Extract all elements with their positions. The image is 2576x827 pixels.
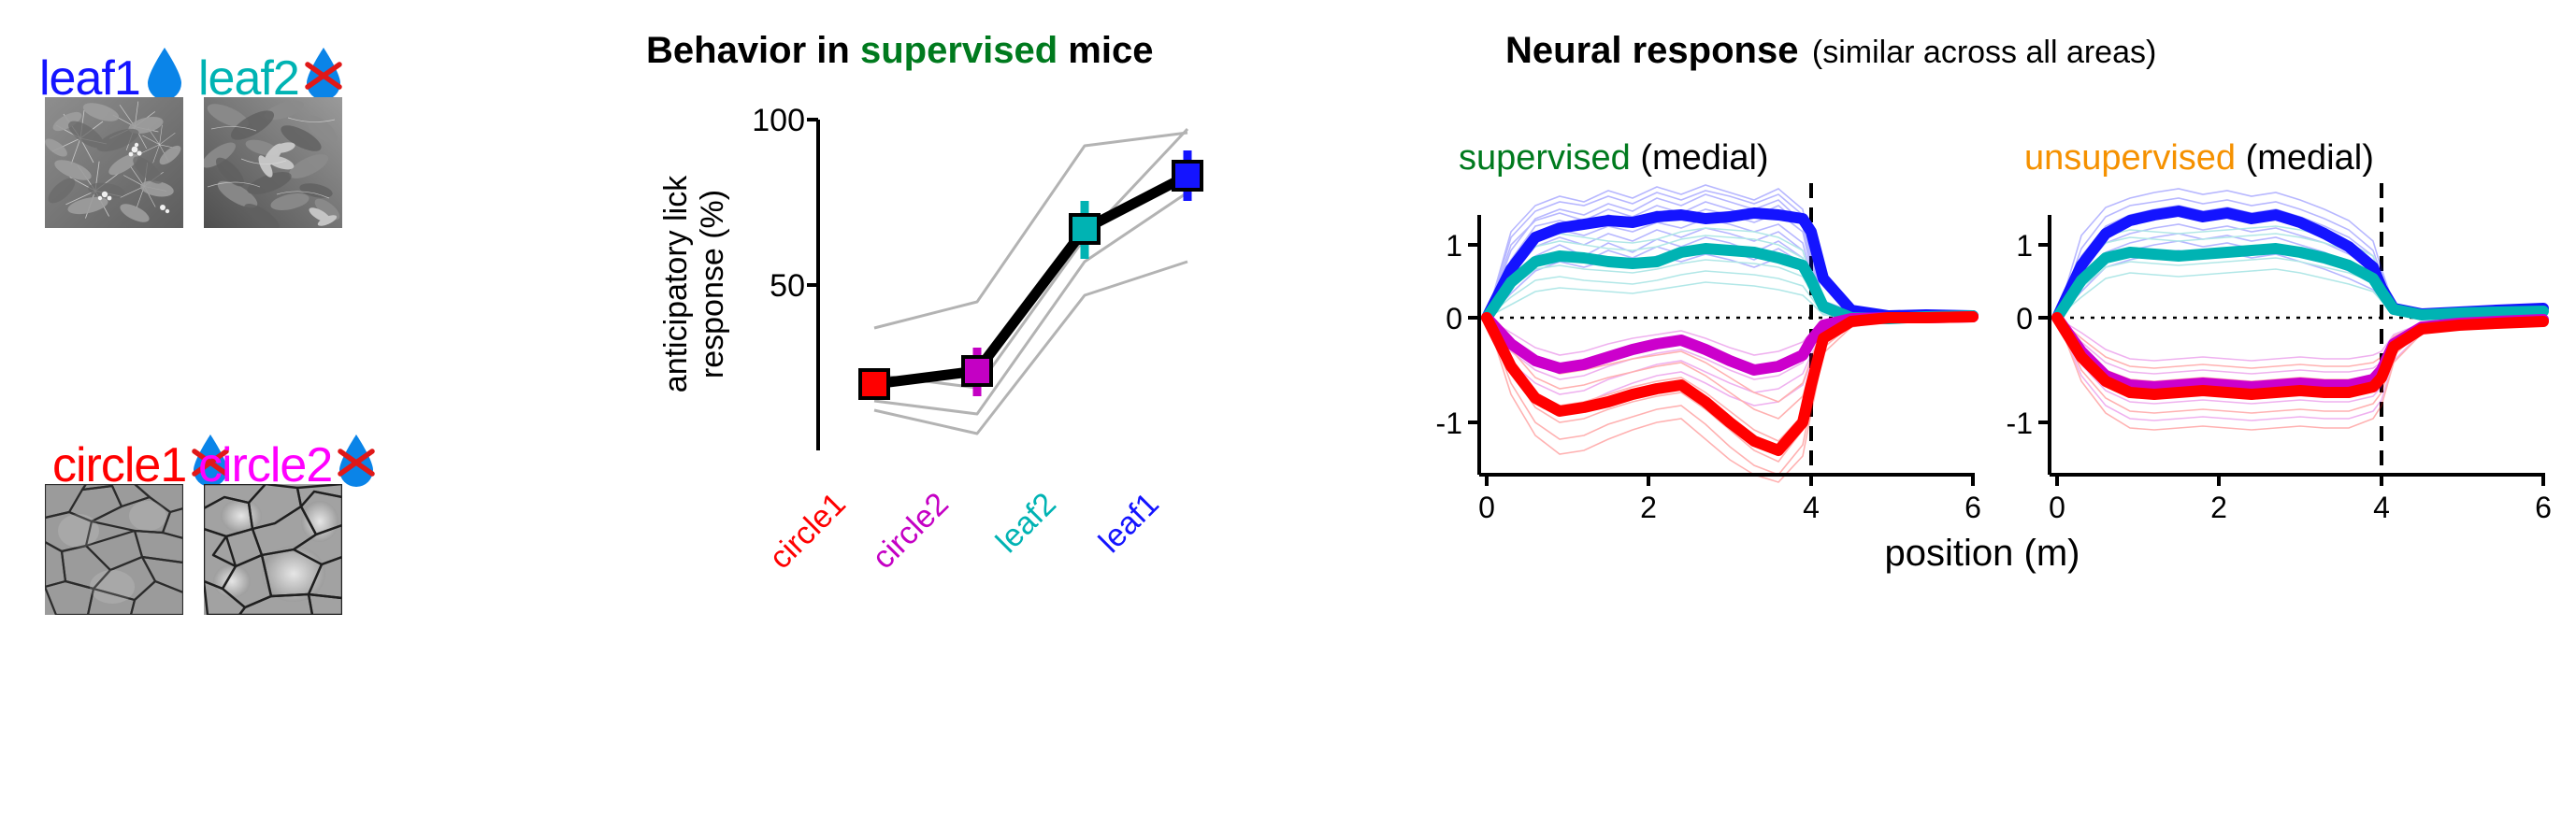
behavior-individual-traces	[874, 129, 1187, 434]
behavior-panel: Behavior in supervised mice anticipatory…	[612, 0, 1351, 827]
behavior-title-post: mice	[1058, 30, 1153, 71]
behavior-errorbar-circle1	[860, 370, 888, 398]
neural-subtitle-unsupervised-name: unsupervised	[2024, 138, 2236, 178]
stimulus-label-circle2: circle2	[198, 441, 332, 490]
stimulus-label-leaf1: leaf1	[39, 54, 140, 103]
behavior-errorbar-leaf1	[1173, 150, 1202, 201]
stimulus-item-leaf2: leaf2	[198, 45, 346, 103]
behavior-ytick-100: 100	[752, 103, 805, 138]
neural-unsup-xtick-0: 0	[2046, 491, 2068, 525]
neural-panel-title: Neural response (similar across all area…	[1505, 30, 2156, 72]
stimulus-item-circle2: circle2	[198, 432, 379, 490]
neural-title-sub: (similar across all areas)	[1812, 35, 2156, 70]
neural-subplot-title-unsupervised: unsupervised (medial)	[2024, 138, 2374, 178]
neural-unsupervised-plot: 1 0 -1	[1992, 178, 2553, 486]
behavior-title-pre: Behavior in	[646, 30, 860, 71]
neural-subtitle-supervised-suffix: (medial)	[1631, 138, 1769, 178]
neural-unsup-ytick-0: 0	[2016, 302, 2033, 335]
neural-sup-ytick-neg1: -1	[1436, 406, 1462, 440]
neural-sup-xtick-4: 4	[1800, 491, 1822, 525]
neural-unsup-ytick-neg1: -1	[2007, 406, 2033, 440]
stimulus-item-leaf1: leaf1	[39, 45, 187, 103]
behavior-xtick-leaf2: leaf2	[945, 486, 1064, 605]
neural-unsup-ytick-1: 1	[2016, 229, 2033, 263]
neural-sup-xtick-0: 0	[1475, 491, 1498, 525]
stimulus-texture-leaf1	[45, 97, 183, 228]
neural-x-axis-label: position (m)	[1702, 533, 2263, 575]
stimulus-texture-leaf2	[204, 97, 342, 228]
behavior-y-axis-label: anticipatory lick response (%)	[658, 130, 731, 438]
behavior-plot-svg: 100 50	[725, 89, 1248, 481]
behavior-title-highlight: supervised	[860, 30, 1058, 71]
neural-unsup-xtick-2: 2	[2208, 491, 2230, 525]
stimulus-texture-circle2	[204, 484, 342, 615]
neural-subtitle-supervised-name: supervised	[1459, 138, 1631, 178]
neural-unsup-xtick-4: 4	[2370, 491, 2393, 525]
behavior-ytick-50: 50	[770, 268, 805, 304]
behavior-mean-line	[874, 176, 1187, 384]
stimulus-label-circle1: circle1	[52, 441, 186, 490]
neural-sup-ytick-1: 1	[1446, 229, 1462, 263]
neural-supervised-plot: 1 0 -1	[1421, 178, 1982, 486]
neural-sup-ytick-0: 0	[1446, 302, 1462, 335]
neural-unsup-xtick-6: 6	[2532, 491, 2554, 525]
water-drop-icon	[142, 45, 187, 103]
mean-trace-leaf1	[2057, 211, 2543, 318]
neural-panel: Neural response (similar across all area…	[1393, 0, 2576, 827]
stimulus-texture-circle1	[45, 484, 183, 615]
behavior-xtick-leaf1: leaf1	[1048, 486, 1167, 605]
water-drop-crossed-icon	[334, 432, 379, 490]
mean-trace-leaf2	[2057, 249, 2543, 318]
neural-subplot-title-supervised: supervised (medial)	[1459, 138, 1769, 178]
mean-trace-circle2	[1487, 317, 1973, 370]
behavior-panel-title: Behavior in supervised mice	[646, 30, 1153, 72]
stimulus-panel: leaf1	[0, 0, 355, 827]
stimulus-label-leaf2: leaf2	[198, 54, 299, 103]
neural-sup-xtick-6: 6	[1962, 491, 1984, 525]
neural-title-main: Neural response	[1505, 30, 1798, 71]
neural-sup-xtick-2: 2	[1637, 491, 1660, 525]
water-drop-crossed-icon	[301, 45, 346, 103]
figure-root: leaf1	[0, 0, 2576, 827]
neural-subtitle-unsupervised-suffix: (medial)	[2236, 138, 2374, 178]
